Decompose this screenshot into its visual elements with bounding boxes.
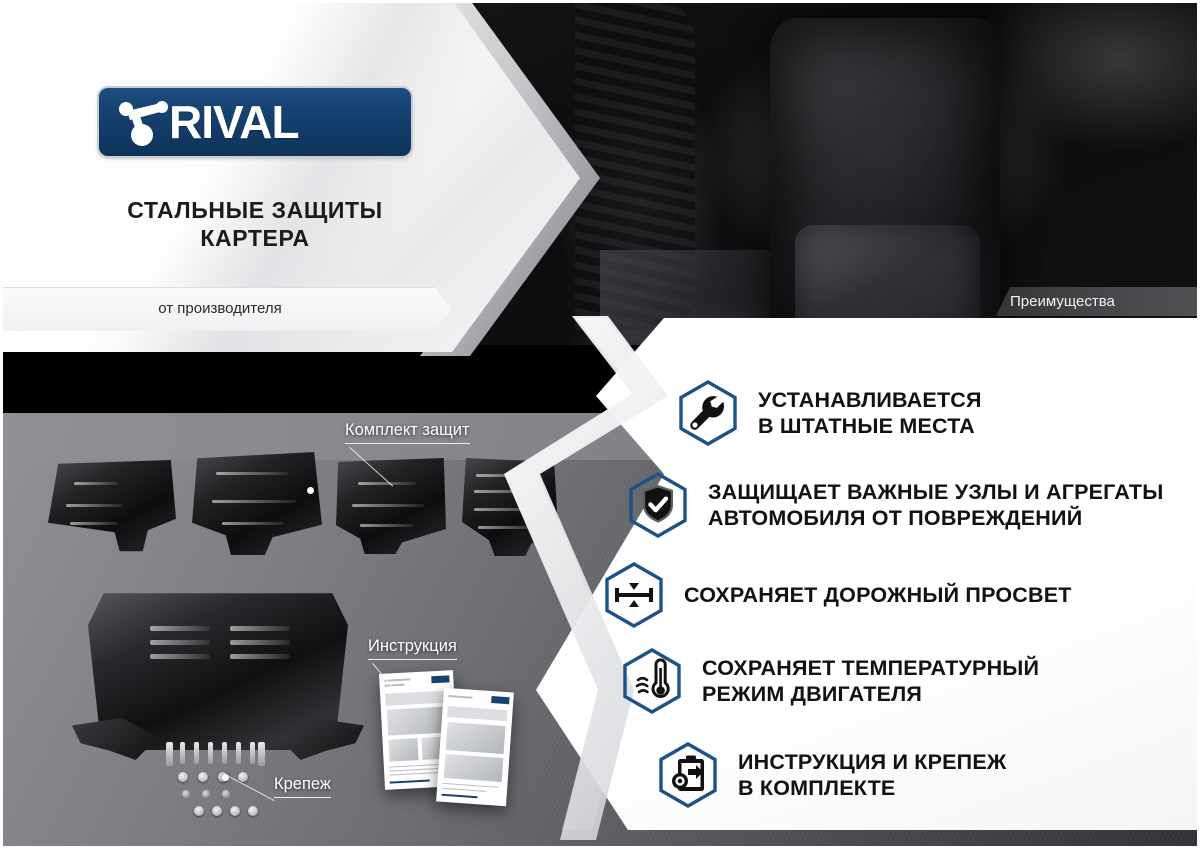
advantage-label-3: СОХРАНЯЕТ ДОРОЖНЫЙ ПРОСВЕТ xyxy=(684,582,1072,608)
headline-line-1: СТАЛЬНЫЕ ЗАЩИТЫ xyxy=(60,196,450,224)
advantage-label-5-line2: В КОМПЛЕКТЕ xyxy=(738,775,1007,801)
clearance-icon xyxy=(604,562,664,628)
thermometer-icon xyxy=(622,648,682,714)
advantage-item-4: СОХРАНЯЕТ ТЕМПЕРАТУРНЫЙ РЕЖИМ ДВИГАТЕЛЯ xyxy=(622,648,1039,714)
hardware-callout: Крепеж xyxy=(274,775,331,798)
hardware-callout-label: Крепеж xyxy=(274,775,331,793)
kit-callout-dot xyxy=(307,487,314,494)
hardware-callout-dot xyxy=(222,774,229,781)
poster-canvas: Комплект защит Инструкция Крепеж RIVAL xyxy=(0,0,1200,849)
wrench-icon xyxy=(678,380,738,446)
advantage-item-2: ЗАЩИЩАЕТ ВАЖНЫЕ УЗЛЫ И АГРЕГАТЫ АВТОМОБИ… xyxy=(628,472,1163,538)
advantage-item-5: ИНСТРУКЦИЯ И КРЕПЕЖ В КОМПЛЕКТЕ xyxy=(658,742,1007,808)
rival-logo[interactable]: RIVAL xyxy=(99,88,411,156)
advantage-label-4: СОХРАНЯЕТ ТЕМПЕРАТУРНЫЙ РЕЖИМ ДВИГАТЕЛЯ xyxy=(702,655,1039,707)
advantage-item-1: УСТАНАВЛИВАЕТСЯ В ШТАТНЫЕ МЕСТА xyxy=(678,380,982,446)
advantage-label-2-line2: АВТОМОБИЛЯ ОТ ПОВРЕЖДЕНИЙ xyxy=(708,505,1163,531)
advantage-label-2-line1: ЗАЩИЩАЕТ ВАЖНЫЕ УЗЛЫ И АГРЕГАТЫ xyxy=(708,480,1163,504)
advantage-label-1-line2: В ШТАТНЫЕ МЕСТА xyxy=(758,413,982,439)
kit-callout: Комплект защит xyxy=(345,421,470,444)
advantage-label-4-line1: СОХРАНЯЕТ ТЕМПЕРАТУРНЫЙ xyxy=(702,656,1039,680)
advantage-label-1: УСТАНАВЛИВАЕТСЯ В ШТАТНЫЕ МЕСТА xyxy=(758,387,982,439)
shield-check-icon xyxy=(628,472,688,538)
clipboard-bolt-icon xyxy=(658,742,718,808)
advantage-label-2: ЗАЩИЩАЕТ ВАЖНЫЕ УЗЛЫ И АГРЕГАТЫ АВТОМОБИ… xyxy=(708,479,1163,531)
instruction-callout-label: Инструкция xyxy=(368,637,457,655)
kit-callout-label: Комплект защит xyxy=(345,421,470,439)
page-title: СТАЛЬНЫЕ ЗАЩИТЫ КАРТЕРА xyxy=(60,196,450,252)
advantage-label-3-line1: СОХРАНЯЕТ ДОРОЖНЫЙ ПРОСВЕТ xyxy=(684,583,1072,607)
subtitle-text: от производителя xyxy=(0,287,440,331)
advantage-label-5-line1: ИНСТРУКЦИЯ И КРЕПЕЖ xyxy=(738,750,1007,774)
advantage-label-5: ИНСТРУКЦИЯ И КРЕПЕЖ В КОМПЛЕКТЕ xyxy=(738,749,1007,801)
rival-logo-text: RIVAL xyxy=(169,92,299,152)
instruction-sheet-2 xyxy=(436,688,514,807)
headline-line-2: КАРТЕРА xyxy=(60,224,450,252)
advantage-label-1-line1: УСТАНАВЛИВАЕТСЯ xyxy=(758,388,982,412)
advantages-tab-label: Преимущества xyxy=(1010,287,1190,316)
instruction-callout: Инструкция xyxy=(368,637,457,660)
advantage-label-4-line2: РЕЖИМ ДВИГАТЕЛЯ xyxy=(702,681,1039,707)
advantage-item-3: СОХРАНЯЕТ ДОРОЖНЫЙ ПРОСВЕТ xyxy=(604,562,1072,628)
molecule-icon xyxy=(117,97,171,147)
